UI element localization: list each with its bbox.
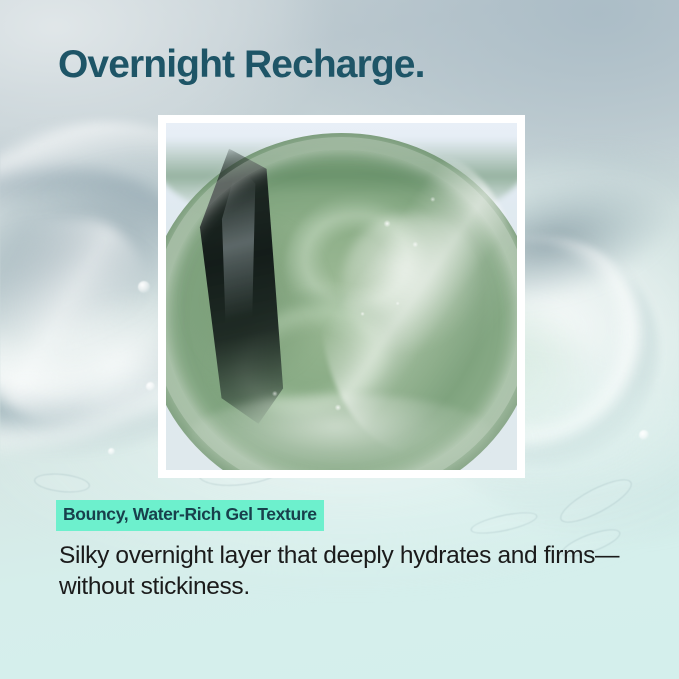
water-droplet xyxy=(138,281,150,293)
water-droplet xyxy=(108,448,115,455)
caption-highlight-label: Bouncy, Water-Rich Gel Texture xyxy=(56,500,324,531)
product-image-card xyxy=(158,115,525,478)
product-feature-panel: Overnight Recharge. Bouncy, Water-Rich G… xyxy=(0,0,679,679)
caption-body-text: Silky overnight layer that deeply hydrat… xyxy=(59,540,644,603)
water-droplet xyxy=(639,430,649,440)
water-droplet xyxy=(146,382,155,391)
product-image xyxy=(166,123,517,470)
caption-block: Bouncy, Water-Rich Gel Texture Silky ove… xyxy=(56,500,646,602)
page-title: Overnight Recharge. xyxy=(58,44,425,87)
